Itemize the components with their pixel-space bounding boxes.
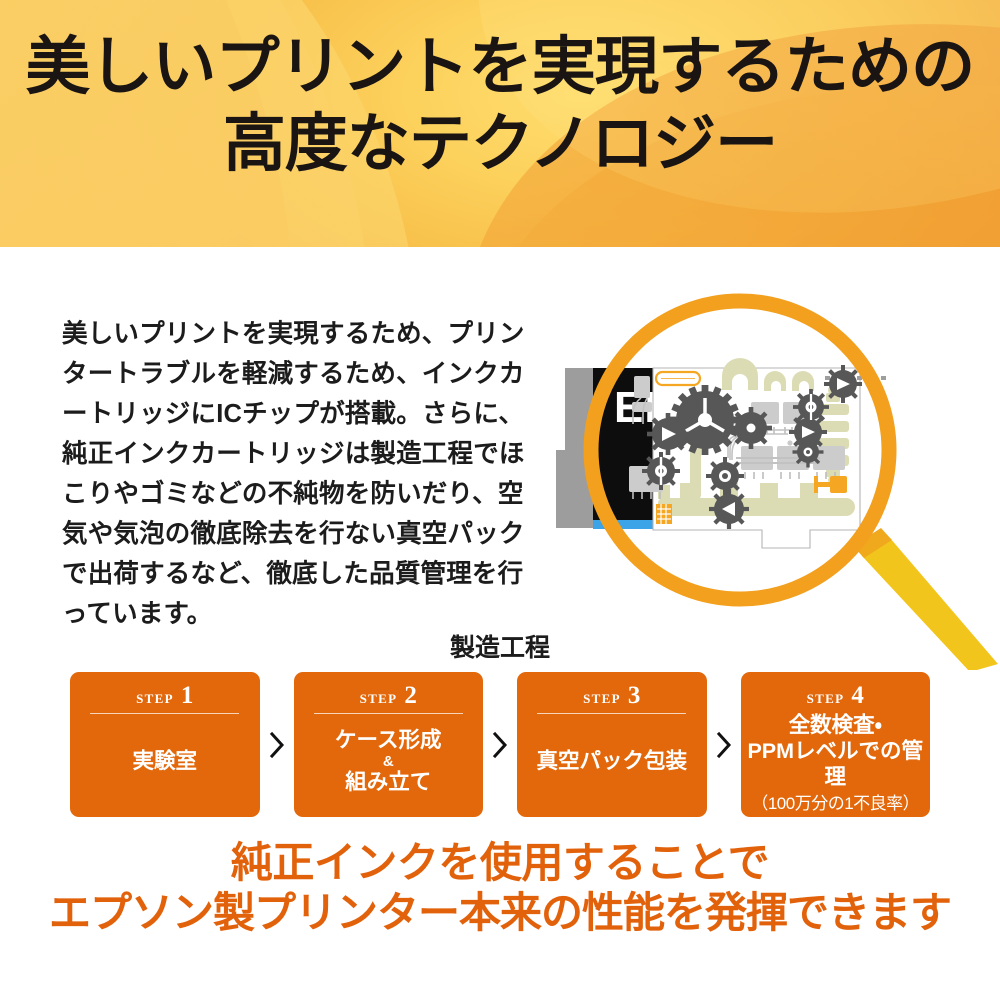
page-title-line-2: 高度なテクノロジー	[0, 113, 1000, 176]
process-section-label: 製造工程	[0, 628, 1000, 664]
step-text-line: 組み立て	[345, 769, 431, 795]
callout-line-1: 純正インクを使用することで	[0, 840, 1000, 885]
step-word-label: STEP	[583, 691, 621, 707]
header-banner: 美しいプリントを実現するための 高度なテクノロジー	[0, 0, 1000, 247]
step-body: 全数検査・ PPMレベルでの管理 （100万分の1不良率）	[747, 712, 925, 814]
step-separator-2	[483, 672, 517, 817]
step-note: （100万分の1不良率）	[751, 794, 919, 814]
step-box-3[interactable]: STEP 3 真空パック包装	[517, 672, 707, 817]
page-title: 美しいプリントを実現するための 高度なテクノロジー	[0, 36, 1000, 176]
infographic-page: 美しいプリントを実現するための 高度なテクノロジー 美しいプリントを実現するため…	[0, 0, 1000, 1000]
step-number: 1	[181, 683, 194, 708]
step-number: 3	[628, 683, 641, 708]
step-text-line: 真空パック包装	[536, 748, 687, 774]
step-header: STEP 4	[807, 683, 864, 708]
step-box-1[interactable]: STEP 1 実験室	[70, 672, 260, 817]
step-word-label: STEP	[360, 691, 398, 707]
step-text-line: ケース形成	[335, 727, 441, 753]
step-text-line: &	[383, 754, 394, 770]
step-header: STEP 2	[360, 683, 417, 709]
step-header: STEP 1	[136, 683, 193, 709]
step-box-2[interactable]: STEP 2 ケース形成 & 組み立て	[294, 672, 484, 817]
chevron-right-icon	[492, 731, 508, 759]
step-separator-1	[260, 672, 294, 817]
step-separator-3	[707, 672, 741, 817]
page-title-line-1: 美しいプリントを実現するための	[0, 36, 1000, 99]
step-body: ケース形成 & 組み立て	[300, 714, 478, 809]
step-body: 真空パック包装	[523, 714, 701, 809]
body-paragraph: 美しいプリントを実現するため、プリンタートラブルを軽減するため、インクカートリッ…	[62, 314, 544, 634]
step-text-line: 実験室	[132, 748, 197, 774]
step-text-line: PPMレベルでの管理	[747, 738, 925, 790]
step-number: 4	[851, 683, 864, 708]
step-header: STEP 3	[583, 683, 640, 709]
step-box-4[interactable]: STEP 4 全数検査・ PPMレベルでの管理 （100万分の1不良率）	[741, 672, 931, 817]
chevron-right-icon	[269, 731, 285, 759]
step-word-label: STEP	[136, 691, 174, 707]
step-word-label: STEP	[807, 691, 845, 707]
chevron-right-icon	[716, 731, 732, 759]
circuit-board-graphic	[629, 358, 888, 548]
cartridge-magnifier-illustration: EP	[540, 280, 1000, 670]
process-steps-row: STEP 1 実験室 STEP 2 ケース形成 & 組み立て	[70, 672, 930, 817]
bottom-callout: 純正インクを使用することで エプソン製プリンター本来の性能を発揮できます	[0, 840, 1000, 936]
step-text-line: 全数検査・	[789, 712, 882, 738]
callout-line-2: エプソン製プリンター本来の性能を発揮できます	[0, 890, 1000, 935]
step-body: 実験室	[76, 714, 254, 809]
step-number: 2	[404, 683, 417, 708]
